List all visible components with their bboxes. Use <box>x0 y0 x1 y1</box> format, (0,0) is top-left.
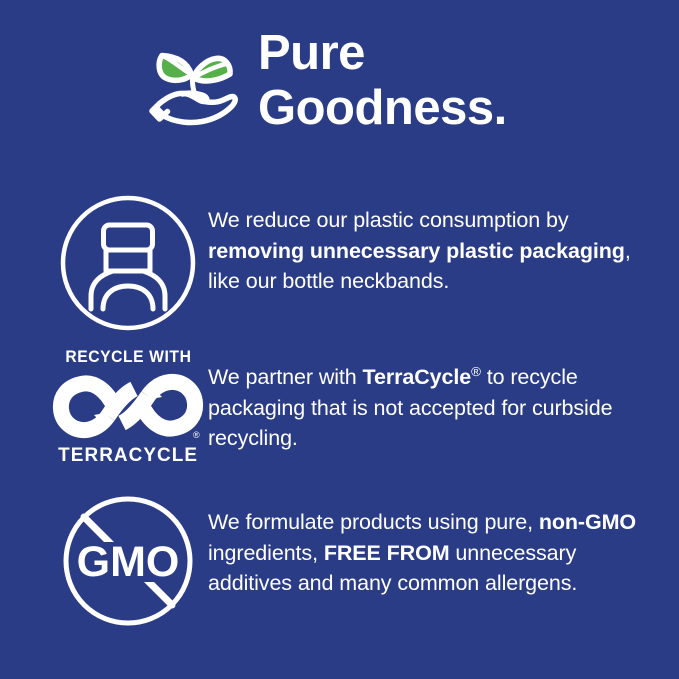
text-segment: ingredients, <box>208 541 324 565</box>
recycling-infinity-loop-icon: ® <box>54 370 202 442</box>
text-segment-bold: FREE FROM <box>324 541 450 565</box>
row-icon-slot <box>48 193 208 333</box>
text-segment-bold: non-GMO <box>539 510 636 534</box>
registered-mark: ® <box>471 364 481 379</box>
feature-text-plastic-reduction: We reduce our plastic consumption by rem… <box>208 193 648 297</box>
brand-header: Pure Goodness. <box>146 26 646 156</box>
feature-row-terracycle: RECYCLE WITH <box>48 348 648 467</box>
bottle-neckband-icon <box>58 193 198 333</box>
text-segment: We partner with <box>208 365 363 389</box>
gmo-label: GMO <box>77 538 180 586</box>
feature-text-non-gmo: We formulate products using pure, non-GM… <box>208 494 648 599</box>
feature-row-non-gmo: GMO We formulate products using pure, no… <box>48 494 648 628</box>
row-icon-slot: RECYCLE WITH <box>48 348 208 467</box>
no-gmo-icon: GMO <box>61 494 195 628</box>
terracycle-top-label: RECYCLE WITH <box>65 348 191 367</box>
registered-mark: ® <box>193 430 200 440</box>
terracycle-logo: RECYCLE WITH <box>54 348 202 467</box>
row-icon-slot: GMO <box>48 494 208 628</box>
text-segment-bold: TerraCycle <box>363 365 472 389</box>
feature-row-plastic-reduction: We reduce our plastic consumption by rem… <box>48 193 648 333</box>
text-segment: We formulate products using pure, <box>208 510 539 534</box>
page-title: Pure Goodness. <box>258 26 507 137</box>
text-segment: We reduce our plastic consumption by <box>208 208 569 232</box>
text-segment-bold: removing unnecessary plastic packaging <box>208 239 625 263</box>
terracycle-bottom-label: TERRACYCLE <box>58 444 198 467</box>
pure-goodness-infographic: Pure Goodness. <box>0 0 679 679</box>
feature-text-terracycle: We partner with TerraCycle® to recycle p… <box>208 348 648 454</box>
hand-holding-sprout-icon <box>146 34 250 138</box>
